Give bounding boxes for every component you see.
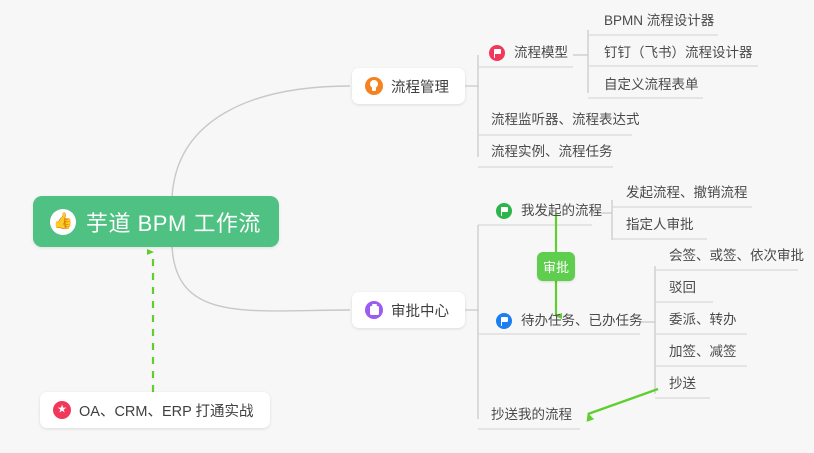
annotation-arrow-cc bbox=[588, 389, 658, 414]
node-cc-my-processes-label: 抄送我的流程 bbox=[491, 408, 572, 422]
node-process-listener-label: 流程监听器、流程表达式 bbox=[491, 113, 640, 127]
star-icon: ★ bbox=[53, 401, 71, 419]
node-custom-form-label: 自定义流程表单 bbox=[604, 78, 699, 92]
node-start-cancel-process[interactable]: 发起流程、撤销流程 bbox=[626, 186, 748, 205]
node-todo-done-tasks[interactable]: 待办任务、已办任务 bbox=[496, 313, 643, 334]
node-todo-done-tasks-label: 待办任务、已办任务 bbox=[521, 314, 643, 328]
node-process-model-label: 流程模型 bbox=[514, 46, 568, 60]
root-node[interactable]: 👍 芋道 BPM 工作流 bbox=[33, 196, 279, 247]
annotation-chip-approval-label: 审批 bbox=[543, 257, 569, 276]
connector-root-to-process bbox=[172, 86, 350, 198]
node-assignee-approval[interactable]: 指定人审批 bbox=[626, 218, 694, 237]
node-process-instance-label: 流程实例、流程任务 bbox=[491, 145, 613, 159]
mindmap-canvas: 👍 芋道 BPM 工作流 流程管理 审批中心 流程模型 BPMN 流程设计器 钉… bbox=[0, 0, 814, 453]
branch-approval-center[interactable]: 审批中心 bbox=[352, 292, 465, 328]
branch-process-management[interactable]: 流程管理 bbox=[352, 68, 465, 104]
node-add-remove-sign[interactable]: 加签、减签 bbox=[669, 345, 737, 364]
node-delegate-transfer-label: 委派、转办 bbox=[669, 313, 737, 327]
lightbulb-icon bbox=[365, 77, 383, 95]
connector-root-to-approval bbox=[172, 246, 350, 311]
node-delegate-transfer[interactable]: 委派、转办 bbox=[669, 313, 737, 332]
thumbs-up-glyph: 👍 bbox=[53, 214, 73, 230]
node-process-listener[interactable]: 流程监听器、流程表达式 bbox=[491, 113, 640, 132]
node-cc-my-processes[interactable]: 抄送我的流程 bbox=[491, 408, 572, 427]
node-countersign[interactable]: 会签、或签、依次审批 bbox=[669, 249, 804, 268]
branch-approval-center-label: 审批中心 bbox=[391, 300, 449, 321]
node-bpmn-designer[interactable]: BPMN 流程设计器 bbox=[604, 14, 714, 33]
root-label: 芋道 BPM 工作流 bbox=[86, 206, 261, 238]
flag-icon bbox=[496, 203, 512, 219]
node-dingtalk-designer[interactable]: 钉钉（飞书）流程设计器 bbox=[604, 46, 753, 65]
bottom-card-integration[interactable]: ★ OA、CRM、ERP 打通实战 bbox=[40, 392, 270, 428]
node-reject-label: 驳回 bbox=[669, 281, 696, 295]
node-cc[interactable]: 抄送 bbox=[669, 377, 696, 396]
node-countersign-label: 会签、或签、依次审批 bbox=[669, 249, 804, 263]
node-bpmn-designer-label: BPMN 流程设计器 bbox=[604, 14, 714, 28]
bottom-card-label: OA、CRM、ERP 打通实战 bbox=[79, 400, 254, 421]
node-assignee-approval-label: 指定人审批 bbox=[626, 218, 694, 232]
node-reject[interactable]: 驳回 bbox=[669, 281, 696, 300]
node-my-processes-label: 我发起的流程 bbox=[521, 204, 602, 218]
node-my-processes[interactable]: 我发起的流程 bbox=[496, 203, 602, 224]
branch-process-management-label: 流程管理 bbox=[391, 76, 449, 97]
node-cc-label: 抄送 bbox=[669, 377, 696, 391]
node-process-instance[interactable]: 流程实例、流程任务 bbox=[491, 145, 613, 164]
star-glyph: ★ bbox=[57, 405, 67, 416]
clipboard-icon bbox=[365, 301, 383, 319]
annotation-chip-approval: 审批 bbox=[537, 252, 575, 281]
node-custom-form[interactable]: 自定义流程表单 bbox=[604, 78, 699, 97]
node-dingtalk-designer-label: 钉钉（飞书）流程设计器 bbox=[604, 46, 753, 60]
node-process-model[interactable]: 流程模型 bbox=[489, 45, 568, 66]
flag-icon bbox=[489, 45, 505, 61]
node-add-remove-sign-label: 加签、减签 bbox=[669, 345, 737, 359]
node-start-cancel-process-label: 发起流程、撤销流程 bbox=[626, 186, 748, 200]
flag-icon bbox=[496, 313, 512, 329]
thumbs-up-icon: 👍 bbox=[50, 209, 76, 235]
